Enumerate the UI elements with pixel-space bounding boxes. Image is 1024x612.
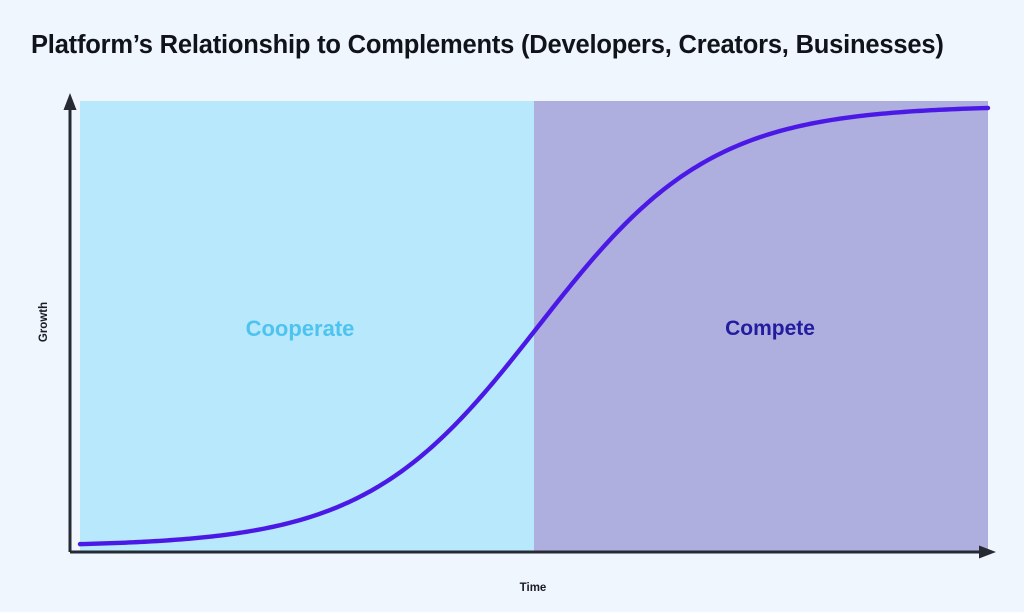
y-axis-arrow-icon: [64, 93, 77, 110]
x-axis-label: Time: [520, 582, 547, 594]
chart-plot-area: [0, 0, 1024, 612]
region-label-cooperate: Cooperate: [246, 316, 355, 342]
chart-page: Platform’s Relationship to Complements (…: [0, 0, 1024, 612]
region-label-compete: Compete: [725, 317, 815, 341]
y-axis-label: Growth: [38, 302, 50, 342]
